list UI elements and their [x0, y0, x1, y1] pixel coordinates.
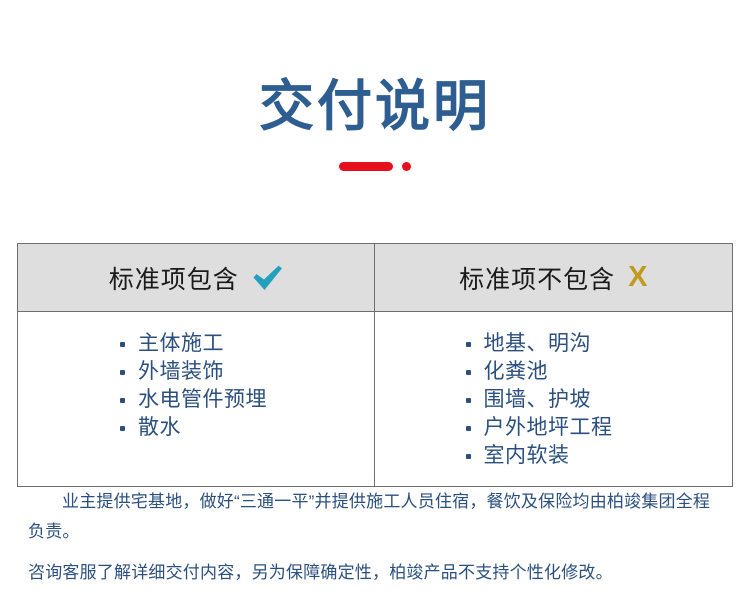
- list-item-label: 化粪池: [484, 360, 549, 383]
- bullet-icon: [120, 398, 125, 403]
- list-item-label: 户外地坪工程: [484, 416, 613, 439]
- x-icon: X: [628, 263, 647, 292]
- table-header-row: 标准项包含 标准项不包含 X: [18, 244, 732, 312]
- list-item: 主体施工: [119, 330, 374, 358]
- bullet-icon: [466, 370, 471, 375]
- excluded-header-label: 标准项不包含: [459, 260, 615, 296]
- bullet-icon: [466, 342, 471, 347]
- footer-notes: 业主提供宅基地，做好“三通一平”并提供施工人员住宿，餐饮及保险均由柏竣集团全程负…: [28, 487, 720, 588]
- page-title: 交付说明: [0, 78, 750, 136]
- list-item-label: 围墙、护坡: [484, 388, 592, 411]
- footer-paragraph-two: 咨询客服了解详细交付内容，另为保障确定性，柏竣产品不支持个性化修改。: [28, 558, 720, 588]
- list-item: 外墙装饰: [119, 358, 374, 386]
- table-header-cell-excluded: 标准项不包含 X: [375, 244, 733, 311]
- list-item: 地基、明沟: [465, 330, 733, 358]
- list-item: 围墙、护坡: [465, 386, 733, 414]
- table-body-row: 主体施工 外墙装饰 水电管件预埋 散水 地基、明沟 化粪池 围墙、护坡 户外地坪…: [18, 312, 732, 486]
- table-cell-excluded-items: 地基、明沟 化粪池 围墙、护坡 户外地坪工程 室内软装: [375, 312, 733, 486]
- list-item-label: 散水: [138, 416, 181, 439]
- list-item: 户外地坪工程: [465, 414, 733, 442]
- list-item-label: 主体施工: [138, 332, 224, 355]
- included-header-label: 标准项包含: [109, 260, 239, 296]
- check-icon: [252, 265, 283, 291]
- bullet-icon: [120, 370, 125, 375]
- delivery-scope-table: 标准项包含 标准项不包含 X 主体施工 外墙装饰 水电管件预埋: [17, 243, 733, 487]
- bullet-icon: [120, 426, 125, 431]
- list-item: 室内软装: [465, 442, 733, 470]
- list-item: 化粪池: [465, 358, 733, 386]
- list-item-label: 室内软装: [484, 444, 570, 467]
- list-item-label: 水电管件预埋: [138, 388, 267, 411]
- table-cell-included-items: 主体施工 外墙装饰 水电管件预埋 散水: [18, 312, 375, 486]
- bullet-icon: [120, 342, 125, 347]
- excluded-items-list: 地基、明沟 化粪池 围墙、护坡 户外地坪工程 室内软装: [465, 330, 733, 470]
- divider-dot-icon: [402, 162, 411, 171]
- decorative-divider: [0, 162, 750, 172]
- table-header-cell-included: 标准项包含: [18, 244, 375, 311]
- footer-paragraph-one: 业主提供宅基地，做好“三通一平”并提供施工人员住宿，餐饮及保险均由柏竣集团全程负…: [28, 487, 720, 547]
- divider-bar-icon: [339, 162, 393, 171]
- bullet-icon: [466, 398, 471, 403]
- list-item-label: 外墙装饰: [138, 360, 224, 383]
- title-section: 交付说明: [0, 0, 750, 136]
- bullet-icon: [466, 426, 471, 431]
- list-item-label: 地基、明沟: [484, 332, 592, 355]
- included-items-list: 主体施工 外墙装饰 水电管件预埋 散水: [119, 330, 374, 442]
- list-item: 水电管件预埋: [119, 386, 374, 414]
- list-item: 散水: [119, 414, 374, 442]
- bullet-icon: [466, 454, 471, 459]
